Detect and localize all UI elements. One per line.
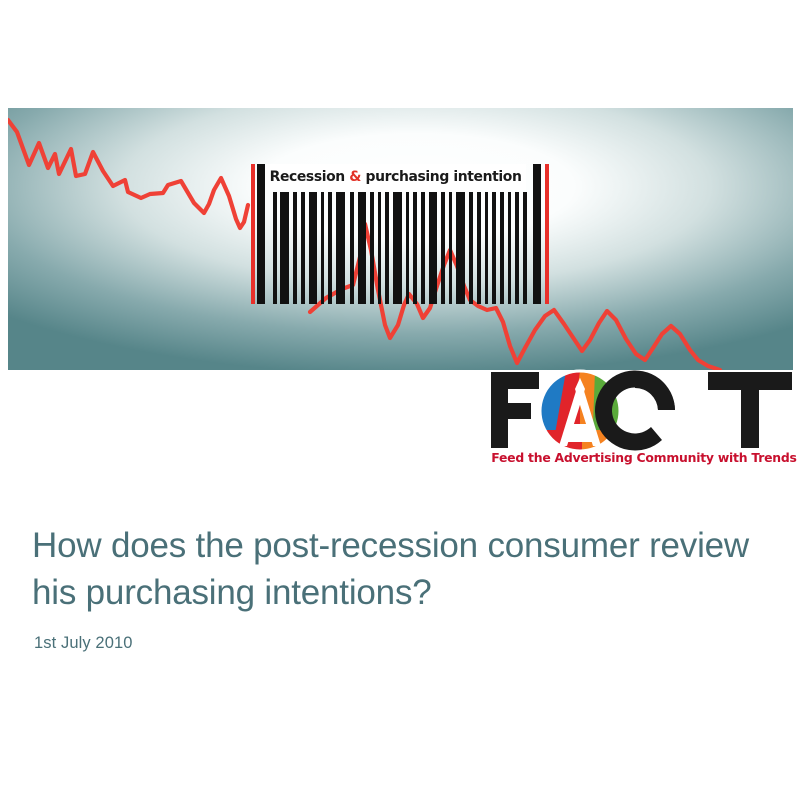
- fact-logo: Feed the Advertising Community with Tren…: [489, 368, 794, 476]
- barcode-caption-ampersand: &: [349, 169, 361, 185]
- slide-canvas: Recession & purchasing intention: [0, 0, 800, 800]
- fact-tagline: Feed the Advertising Community with Tren…: [491, 450, 791, 465]
- barcode-caption: Recession & purchasing intention: [265, 164, 526, 190]
- logo-letter-f: [491, 372, 539, 448]
- page-title: How does the post-recession consumer rev…: [32, 522, 762, 616]
- slide-date: 1st July 2010: [34, 634, 762, 653]
- title-block: How does the post-recession consumer rev…: [32, 522, 762, 653]
- barcode-caption-prefix: Recession: [270, 169, 350, 185]
- fact-wordmark: [489, 368, 794, 452]
- barcode-caption-suffix: purchasing intention: [361, 169, 521, 185]
- barcode-graphic: Recession & purchasing intention: [243, 164, 558, 304]
- logo-letter-c: [595, 370, 675, 450]
- logo-letter-t: [708, 372, 792, 448]
